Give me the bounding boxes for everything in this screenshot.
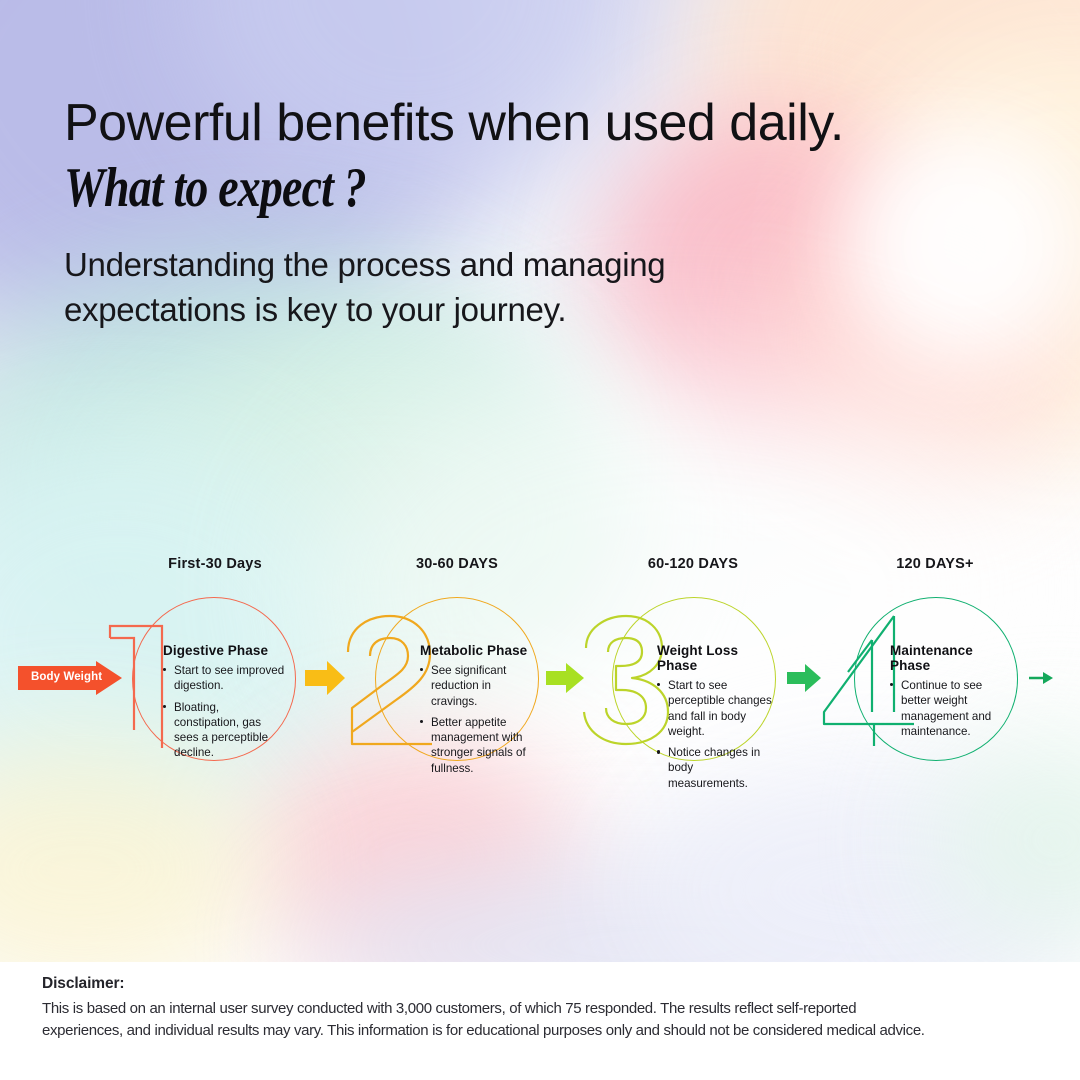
phase-3-title: Weight Loss Phase [657, 643, 775, 673]
body-weight-label: Body Weight [31, 671, 102, 683]
phase-4-card: Maintenance Phase Continue to see better… [890, 643, 1008, 745]
arrow-phase1-to-phase2-icon [305, 661, 345, 700]
arrow-phase4-end-icon [1029, 668, 1055, 693]
phase-4-title: Maintenance Phase [890, 643, 1008, 673]
phase-1-card: Digestive Phase Start to see improved di… [163, 643, 287, 767]
phase-1-period: First-30 Days [145, 556, 285, 572]
phase-2-bullet-2: Better appetite management with stronger… [420, 715, 532, 776]
phase-timeline: Body Weight First-30 Days Digestive Phas… [0, 0, 1080, 1080]
phase-4-period: 120 DAYS+ [865, 556, 1005, 572]
phase-2-card: Metabolic Phase See significant reductio… [420, 643, 532, 782]
phase-2-title: Metabolic Phase [420, 643, 532, 658]
phase-4-bullet-1: Continue to see better weight management… [890, 678, 1008, 739]
phase-3-bullet-1: Start to see perceptible changes and fal… [657, 678, 775, 739]
phase-1-bullet-2: Bloating, constipation, gas sees a perce… [163, 700, 287, 761]
phase-2-period: 30-60 DAYS [387, 556, 527, 572]
disclaimer-title: Disclaimer: [42, 975, 124, 993]
phase-1-bullet-1: Start to see improved digestion. [163, 663, 287, 694]
phase-2-bullet-1: See significant reduction in cravings. [420, 663, 532, 709]
infographic-canvas: Powerful benefits when used daily. What … [0, 0, 1080, 1080]
phase-3-card: Weight Loss Phase Start to see perceptib… [657, 643, 775, 797]
phase-3-bullet-2: Notice changes in body measurements. [657, 745, 775, 791]
phase-3-period: 60-120 DAYS [623, 556, 763, 572]
disclaimer-body: This is based on an internal user survey… [42, 998, 932, 1042]
arrow-phase3-to-phase4-icon [787, 664, 821, 697]
phase-1-title: Digestive Phase [163, 643, 287, 658]
